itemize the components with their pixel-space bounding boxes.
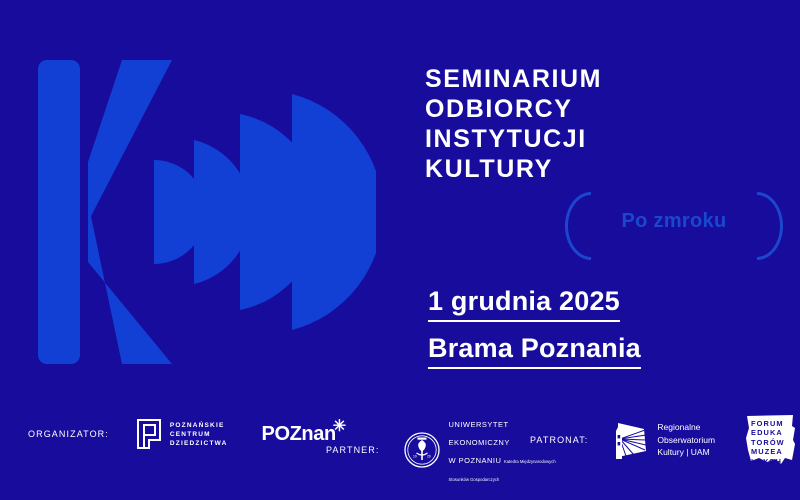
- pcd-mark-icon: [135, 418, 163, 450]
- organizator-label: ORGANIZATOR:: [28, 429, 109, 439]
- headline-line-2: ODBIORCY: [425, 94, 785, 124]
- poznan-wordmark: POZnan: [262, 423, 336, 445]
- uep-sub-line-2: Stosunków Gospodarczych: [448, 477, 499, 482]
- footer-group-organizator: ORGANIZATOR: POZNAŃSKIE CENTRUM DZIEDZIC…: [28, 418, 336, 450]
- uep-line-2: EKONOMICZNY: [448, 438, 509, 447]
- svg-text:26: 26: [427, 455, 431, 459]
- poster-canvas: SEMINARIUM ODBIORCY INSTYTUCJI KULTURY P…: [0, 0, 800, 500]
- footer-group-partner: PARTNER: 19 26 UNIWERSYTET EKONOMICZNY: [326, 414, 556, 486]
- event-details: 1 grudnia 2025 Brama Poznania: [428, 283, 768, 377]
- event-date: 1 grudnia 2025: [428, 283, 620, 322]
- regionalne-obserwatorium-kultury-logo: Regionalne Obserwatorium Kultury | UAM: [610, 419, 715, 461]
- headline-line-3: INSTYTUCJI: [425, 124, 785, 154]
- fem-line-3: TORÓW: [751, 438, 785, 447]
- headline: SEMINARIUM ODBIORCY INSTYTUCJI KULTURY: [425, 64, 785, 184]
- footer: ORGANIZATOR: POZNAŃSKIE CENTRUM DZIEDZIC…: [0, 390, 800, 500]
- pcd-line-1: POZNAŃSKIE: [170, 422, 225, 429]
- uep-line-3: W POZNANIU: [448, 456, 501, 465]
- rok-line-3: Kultury | UAM: [657, 447, 709, 457]
- fem-line-1: FORUM: [751, 419, 784, 428]
- headline-line-1: SEMINARIUM: [425, 64, 785, 94]
- fem-line-2: EDUKA: [751, 428, 783, 437]
- poznanskie-centrum-dziedzictwa-logo: POZNAŃSKIE CENTRUM DZIEDZICTWA: [135, 418, 228, 450]
- headline-line-4: KULTURY: [425, 154, 785, 184]
- rok-line-1: Regionalne: [657, 422, 700, 432]
- svg-text:19: 19: [413, 455, 417, 459]
- fem-line-4: MUZEA: [751, 447, 783, 456]
- pcd-line-3: DZIEDZICTWA: [170, 440, 228, 447]
- patronat-label: PATRONAT:: [530, 435, 588, 445]
- poznan-logo: POZnan✳: [262, 423, 336, 446]
- po-zmroku-badge: Po zmroku: [565, 192, 783, 260]
- partner-label: PARTNER:: [326, 445, 379, 455]
- uep-seal-icon: 19 26: [403, 430, 441, 470]
- rok-line-2: Obserwatorium: [657, 435, 715, 445]
- pcd-line-2: CENTRUM: [170, 431, 211, 438]
- footer-group-patronat: PATRONAT:: [530, 414, 797, 466]
- badge-label: Po zmroku: [565, 210, 783, 233]
- forum-edukatorow-muzealnych-logo: FORUM EDUKA TORÓW MUZEA LNYCH: [745, 414, 797, 466]
- rok-fan-icon: [610, 419, 650, 461]
- event-venue: Brama Poznania: [428, 330, 641, 369]
- uep-line-1: UNIWERSYTET: [448, 420, 508, 429]
- fem-line-5: LNYCH: [751, 457, 782, 466]
- k-soundwave-logo: [26, 52, 376, 372]
